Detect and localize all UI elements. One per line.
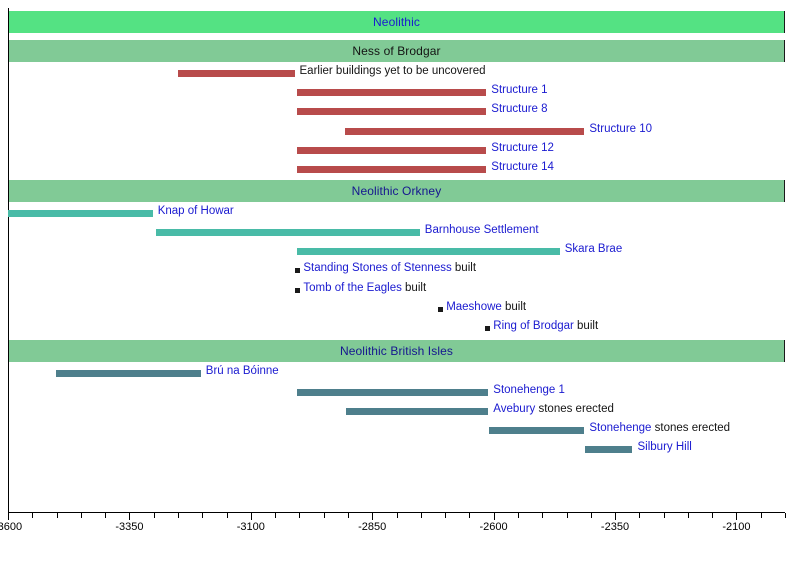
group-band-neolithic-orkney: Neolithic Orkney: [9, 180, 785, 202]
bar-row: Structure 10: [0, 122, 800, 140]
x-axis-minor-tick: [32, 513, 33, 518]
x-axis-minor-tick: [299, 513, 300, 518]
x-axis-major-tick: [372, 513, 373, 520]
x-axis-minor-tick: [567, 513, 568, 518]
duration-bar[interactable]: [297, 147, 487, 154]
duration-bar[interactable]: [489, 427, 584, 434]
x-axis-tick-label: -2850: [358, 521, 386, 533]
duration-bar[interactable]: [297, 248, 559, 255]
bar-row: Structure 1: [0, 83, 800, 101]
milestone-row: Maeshowe built: [0, 300, 800, 318]
milestone-row: Ring of Brodgar built: [0, 319, 800, 337]
x-axis-minor-tick: [469, 513, 470, 518]
x-axis-minor-tick: [445, 513, 446, 518]
x-axis-minor-tick: [202, 513, 203, 518]
x-axis-minor-tick: [397, 513, 398, 518]
milestone-row: Standing Stones of Stenness built: [0, 261, 800, 279]
x-axis-major-tick: [494, 513, 495, 520]
x-axis-tick-label: -3600: [0, 521, 22, 533]
bar-row: Avebury stones erected: [0, 402, 800, 420]
duration-bar[interactable]: [297, 89, 487, 96]
x-axis-minor-tick: [348, 513, 349, 518]
x-axis-minor-tick: [57, 513, 58, 518]
bar-row: Knap of Howar: [0, 204, 800, 222]
bar-row: Stonehenge stones erected: [0, 421, 800, 439]
band-label: Ness of Brodgar: [352, 44, 440, 58]
x-axis-minor-tick: [81, 513, 82, 518]
x-axis-minor-tick: [275, 513, 276, 518]
x-axis-tick-label: -2350: [601, 521, 629, 533]
x-axis-tick-label: -3350: [115, 521, 143, 533]
duration-bar[interactable]: [345, 128, 585, 135]
bar-row: Barnhouse Settlement: [0, 223, 800, 241]
x-axis-minor-tick: [712, 513, 713, 518]
bar-label: Standing Stones of Stenness built: [303, 262, 476, 274]
duration-bar[interactable]: [297, 166, 487, 173]
bar-row: Structure 12: [0, 141, 800, 159]
x-axis-minor-tick: [591, 513, 592, 518]
bar-label: Silbury Hill: [638, 441, 692, 453]
band-label: Neolithic: [373, 15, 420, 29]
x-axis-major-tick: [129, 513, 130, 520]
milestone-marker[interactable]: [438, 307, 443, 312]
duration-bar[interactable]: [56, 370, 201, 377]
bar-label: Stonehenge 1: [493, 384, 565, 396]
bar-row: Brú na Bóinne: [0, 364, 800, 382]
duration-bar[interactable]: [297, 389, 488, 396]
era-band-neolithic: Neolithic: [9, 11, 785, 33]
x-axis-minor-tick: [542, 513, 543, 518]
bar-row: Structure 8: [0, 102, 800, 120]
x-axis-minor-tick: [154, 513, 155, 518]
group-band-ness-of-brodgar: Ness of Brodgar: [9, 40, 785, 62]
bar-label: Structure 12: [491, 142, 554, 154]
bar-row: Stonehenge 1: [0, 383, 800, 401]
bar-label: Avebury stones erected: [493, 403, 614, 415]
bar-label: Structure 10: [589, 123, 652, 135]
milestone-marker[interactable]: [295, 268, 300, 273]
x-axis-minor-tick: [688, 513, 689, 518]
x-axis-minor-tick: [664, 513, 665, 518]
x-axis-major-tick: [615, 513, 616, 520]
x-axis-tick-label: -3100: [237, 521, 265, 533]
bar-label: Knap of Howar: [158, 205, 234, 217]
bar-label: Brú na Bóinne: [206, 365, 279, 377]
bar-label: Skara Brae: [565, 243, 623, 255]
duration-bar[interactable]: [8, 210, 153, 217]
x-axis-tick-label: -2600: [480, 521, 508, 533]
bar-label: Structure 1: [491, 84, 547, 96]
bar-label: Maeshowe built: [446, 301, 526, 313]
bar-label: Stonehenge stones erected: [589, 422, 730, 434]
x-axis-minor-tick: [421, 513, 422, 518]
duration-bar[interactable]: [585, 446, 632, 453]
timeline-chart: -3600-3350-3100-2850-2600-2350-2100 Neol…: [0, 0, 800, 570]
x-axis-minor-tick: [227, 513, 228, 518]
bar-row: Silbury Hill: [0, 440, 800, 458]
milestone-marker[interactable]: [485, 326, 490, 331]
x-axis-tick-label: -2100: [722, 521, 750, 533]
bar-row: Earlier buildings yet to be uncovered: [0, 64, 800, 82]
bar-label: Tomb of the Eagles built: [303, 282, 426, 294]
group-band-neolithic-british-isles: Neolithic British Isles: [9, 340, 785, 362]
duration-bar[interactable]: [156, 229, 420, 236]
bar-label: Structure 8: [491, 103, 547, 115]
milestone-row: Tomb of the Eagles built: [0, 281, 800, 299]
bar-row: Structure 14: [0, 160, 800, 178]
x-axis-minor-tick: [105, 513, 106, 518]
x-axis-major-tick: [8, 513, 9, 520]
duration-bar[interactable]: [178, 70, 295, 77]
x-axis-minor-tick: [324, 513, 325, 518]
bar-label: Earlier buildings yet to be uncovered: [300, 65, 486, 77]
bar-row: Skara Brae: [0, 242, 800, 260]
band-label: Neolithic Orkney: [352, 184, 442, 198]
x-axis-minor-tick: [518, 513, 519, 518]
duration-bar[interactable]: [297, 108, 487, 115]
milestone-marker[interactable]: [295, 288, 300, 293]
bar-label: Barnhouse Settlement: [425, 224, 539, 236]
x-axis-minor-tick: [639, 513, 640, 518]
duration-bar[interactable]: [346, 408, 489, 415]
x-axis-minor-tick: [178, 513, 179, 518]
bar-label: Structure 14: [491, 161, 554, 173]
bar-label: Ring of Brodgar built: [493, 320, 598, 332]
band-label: Neolithic British Isles: [340, 344, 453, 358]
x-axis-major-tick: [736, 513, 737, 520]
x-axis-major-tick: [251, 513, 252, 520]
x-axis-minor-tick: [785, 513, 786, 518]
x-axis-minor-tick: [761, 513, 762, 518]
